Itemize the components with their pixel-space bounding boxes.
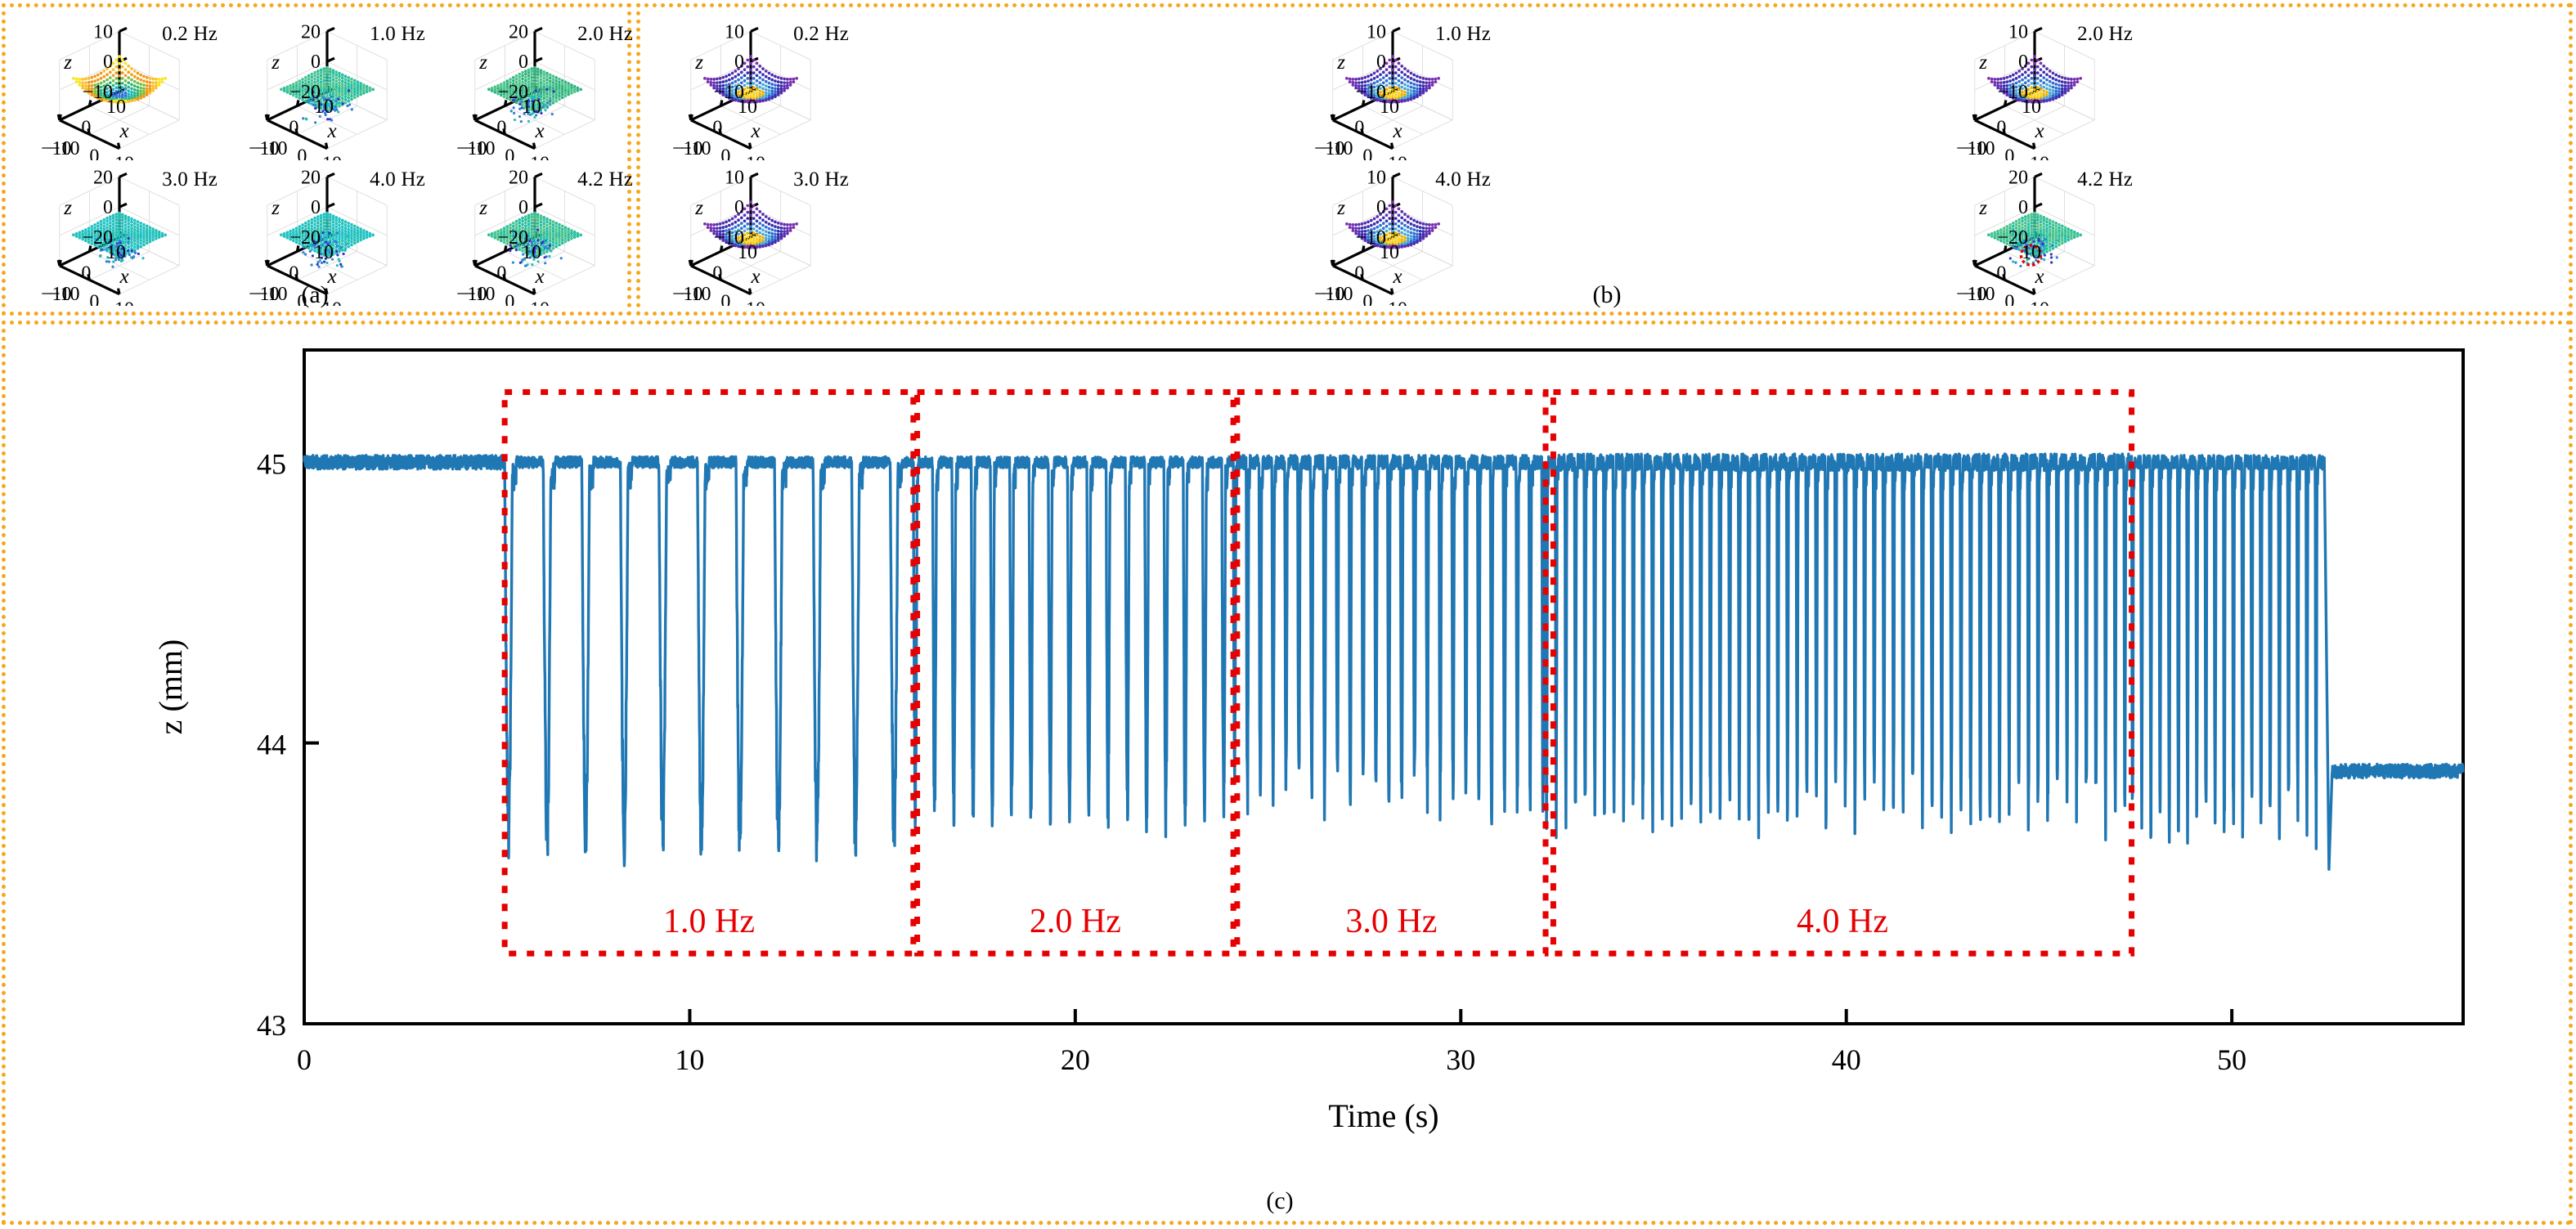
svg-text:10: 10: [675, 1043, 704, 1076]
svg-text:10: 10: [1380, 96, 1399, 118]
svg-text:10: 10: [314, 242, 334, 263]
svg-text:z: z: [63, 197, 72, 219]
svg-text:10: 10: [738, 242, 757, 263]
svg-text:z: z: [1336, 52, 1345, 74]
svg-text:−10: −10: [49, 138, 80, 159]
subplot-3d-b-42hz: 200−20z100−10x−10010y4.2 Hz: [1930, 160, 2141, 306]
svg-text:−10: −10: [464, 138, 496, 159]
figure-canvas: 100−10z100−10x−10010y0.2 Hz200−20z100−10…: [0, 0, 2576, 1229]
svg-text:−10: −10: [1322, 284, 1353, 305]
svg-text:x: x: [534, 266, 544, 288]
svg-text:z (mm): z (mm): [152, 639, 189, 735]
svg-text:x: x: [1392, 120, 1402, 142]
svg-text:30: 30: [1446, 1043, 1475, 1076]
frequency-label: 2.0 Hz: [2077, 23, 2133, 46]
svg-text:0: 0: [81, 118, 91, 139]
svg-text:10: 10: [2008, 21, 2028, 43]
svg-text:10: 10: [725, 167, 744, 188]
svg-text:0: 0: [1376, 52, 1386, 73]
caption-panel-b: (b): [1505, 281, 1709, 309]
frequency-label: 4.2 Hz: [2077, 168, 2133, 191]
svg-text:10: 10: [725, 21, 744, 43]
svg-text:z: z: [478, 52, 487, 74]
svg-text:10: 10: [1388, 154, 1407, 160]
svg-text:10: 10: [522, 242, 541, 263]
svg-text:20: 20: [301, 21, 321, 43]
subplot-3d-a-42hz: 200−20z100−10x−10010y4.2 Hz: [430, 160, 641, 306]
frequency-label: 0.2 Hz: [793, 23, 849, 46]
subplot-3d-a-30hz: 200−20z100−10x−10010y3.0 Hz: [15, 160, 226, 306]
subplot-3d-b-30hz: 100−10z100−10x−10010y3.0 Hz: [646, 160, 857, 306]
svg-text:10: 10: [1367, 167, 1386, 188]
svg-text:0: 0: [1996, 263, 2006, 285]
svg-text:−10: −10: [257, 138, 288, 159]
subplot-3d-b-20hz: 100−10z100−10x−10010y2.0 Hz: [1930, 15, 2141, 160]
svg-text:10: 10: [2030, 154, 2049, 160]
svg-text:10: 10: [114, 299, 134, 306]
svg-text:0: 0: [2018, 197, 2028, 218]
svg-text:10: 10: [314, 96, 334, 118]
svg-text:−10: −10: [464, 284, 496, 305]
panel-b-frame: [636, 3, 2573, 316]
subplot-3d-b-02hz: 100−10z100−10x−10010y0.2 Hz: [646, 15, 857, 160]
svg-text:z: z: [694, 52, 703, 74]
svg-text:10: 10: [530, 154, 550, 160]
svg-text:0: 0: [518, 52, 528, 73]
frequency-label: 1.0 Hz: [370, 23, 425, 46]
svg-text:z: z: [694, 197, 703, 219]
svg-text:x: x: [750, 120, 760, 142]
svg-text:0: 0: [297, 1043, 312, 1076]
svg-text:0: 0: [1996, 118, 2006, 139]
svg-text:0: 0: [712, 263, 722, 285]
svg-text:x: x: [2034, 266, 2044, 288]
svg-text:0: 0: [1362, 291, 1372, 306]
svg-text:10: 10: [746, 299, 765, 306]
svg-text:0: 0: [712, 118, 722, 139]
svg-text:x: x: [119, 266, 128, 288]
svg-text:0: 0: [720, 146, 730, 160]
subplot-3d-a-20hz: 200−20z100−10x−10010y2.0 Hz: [430, 15, 641, 160]
svg-text:44: 44: [257, 729, 286, 761]
frequency-band-label: 3.0 Hz: [1345, 903, 1437, 940]
svg-text:0: 0: [496, 263, 506, 285]
svg-text:10: 10: [738, 96, 757, 118]
frequency-band-label: 4.0 Hz: [1797, 903, 1888, 940]
svg-text:40: 40: [1832, 1043, 1861, 1076]
svg-text:0: 0: [1362, 146, 1372, 160]
svg-text:10: 10: [322, 154, 342, 160]
svg-text:z: z: [1978, 197, 1987, 219]
frequency-label: 2.0 Hz: [577, 23, 633, 46]
svg-text:10: 10: [530, 299, 550, 306]
svg-text:−10: −10: [680, 284, 711, 305]
svg-text:43: 43: [257, 1009, 286, 1042]
svg-text:0: 0: [2018, 52, 2028, 73]
svg-text:0: 0: [505, 291, 514, 306]
subplot-3d-b-10hz: 100−10z100−10x−10010y1.0 Hz: [1288, 15, 1499, 160]
svg-text:x: x: [119, 120, 128, 142]
svg-text:10: 10: [106, 242, 126, 263]
svg-text:0: 0: [734, 197, 744, 218]
svg-text:0: 0: [2004, 291, 2014, 306]
svg-text:10: 10: [522, 96, 541, 118]
svg-text:0: 0: [103, 197, 113, 218]
svg-text:−10: −10: [680, 138, 711, 159]
svg-text:10: 10: [93, 21, 113, 43]
svg-text:−10: −10: [1964, 284, 1995, 305]
svg-text:0: 0: [720, 291, 730, 306]
svg-text:0: 0: [1354, 263, 1364, 285]
svg-text:x: x: [750, 266, 760, 288]
svg-text:x: x: [1392, 266, 1402, 288]
frequency-label: 3.0 Hz: [793, 168, 849, 191]
frequency-label: 4.0 Hz: [370, 168, 425, 191]
svg-text:0: 0: [734, 52, 744, 73]
subplot-3d-a-02hz: 100−10z100−10x−10010y0.2 Hz: [15, 15, 226, 160]
frequency-label: 4.2 Hz: [577, 168, 633, 191]
svg-text:0: 0: [496, 118, 506, 139]
svg-text:10: 10: [2030, 299, 2049, 306]
svg-text:20: 20: [2008, 167, 2028, 188]
frequency-band-box: [1553, 392, 2131, 954]
svg-text:10: 10: [1380, 242, 1399, 263]
frequency-band-label: 1.0 Hz: [663, 903, 755, 940]
svg-text:20: 20: [509, 167, 528, 188]
svg-text:20: 20: [509, 21, 528, 43]
svg-text:x: x: [2034, 120, 2044, 142]
svg-text:−10: −10: [1964, 138, 1995, 159]
svg-text:z: z: [478, 197, 487, 219]
svg-text:50: 50: [2217, 1043, 2246, 1076]
svg-text:20: 20: [1061, 1043, 1090, 1076]
svg-text:0: 0: [2004, 146, 2014, 160]
signal-line: [304, 454, 2463, 869]
svg-text:z: z: [63, 52, 72, 74]
svg-text:0: 0: [1354, 118, 1364, 139]
svg-text:z: z: [1978, 52, 1987, 74]
svg-text:0: 0: [1376, 197, 1386, 218]
svg-text:z: z: [1336, 197, 1345, 219]
svg-text:10: 10: [1367, 21, 1386, 43]
svg-text:10: 10: [2022, 96, 2041, 118]
caption-panel-a: (a): [213, 281, 417, 309]
svg-text:0: 0: [505, 146, 514, 160]
subplot-3d-b-40hz: 100−10z100−10x−10010y4.0 Hz: [1288, 160, 1499, 306]
svg-text:20: 20: [93, 167, 113, 188]
frequency-label: 0.2 Hz: [162, 23, 218, 46]
svg-text:x: x: [326, 120, 336, 142]
frequency-band-label: 2.0 Hz: [1030, 903, 1121, 940]
svg-text:0: 0: [311, 197, 321, 218]
svg-text:Time (s): Time (s): [1328, 1097, 1438, 1134]
svg-text:0: 0: [103, 52, 113, 73]
svg-text:10: 10: [2022, 242, 2041, 263]
svg-text:0: 0: [518, 197, 528, 218]
svg-text:0: 0: [289, 118, 298, 139]
timeseries-chart-panel: 01020304050434445Time (s)z (mm)1.0 Hz2.0…: [2, 321, 2573, 1225]
svg-text:0: 0: [89, 146, 99, 160]
svg-text:10: 10: [114, 154, 134, 160]
svg-text:45: 45: [257, 447, 286, 480]
svg-text:10: 10: [1388, 299, 1407, 306]
svg-text:z: z: [271, 197, 280, 219]
svg-text:z: z: [271, 52, 280, 74]
svg-text:−10: −10: [1322, 138, 1353, 159]
svg-text:10: 10: [106, 96, 126, 118]
svg-text:x: x: [534, 120, 544, 142]
svg-text:10: 10: [746, 154, 765, 160]
frequency-label: 3.0 Hz: [162, 168, 218, 191]
svg-text:0: 0: [297, 146, 307, 160]
svg-text:0: 0: [311, 52, 321, 73]
frequency-label: 1.0 Hz: [1435, 23, 1491, 46]
svg-text:20: 20: [301, 167, 321, 188]
svg-text:0: 0: [89, 291, 99, 306]
svg-text:−10: −10: [49, 284, 80, 305]
frequency-label: 4.0 Hz: [1435, 168, 1491, 191]
subplot-3d-a-10hz: 200−20z100−10x−10010y1.0 Hz: [222, 15, 433, 160]
svg-text:0: 0: [81, 263, 91, 285]
